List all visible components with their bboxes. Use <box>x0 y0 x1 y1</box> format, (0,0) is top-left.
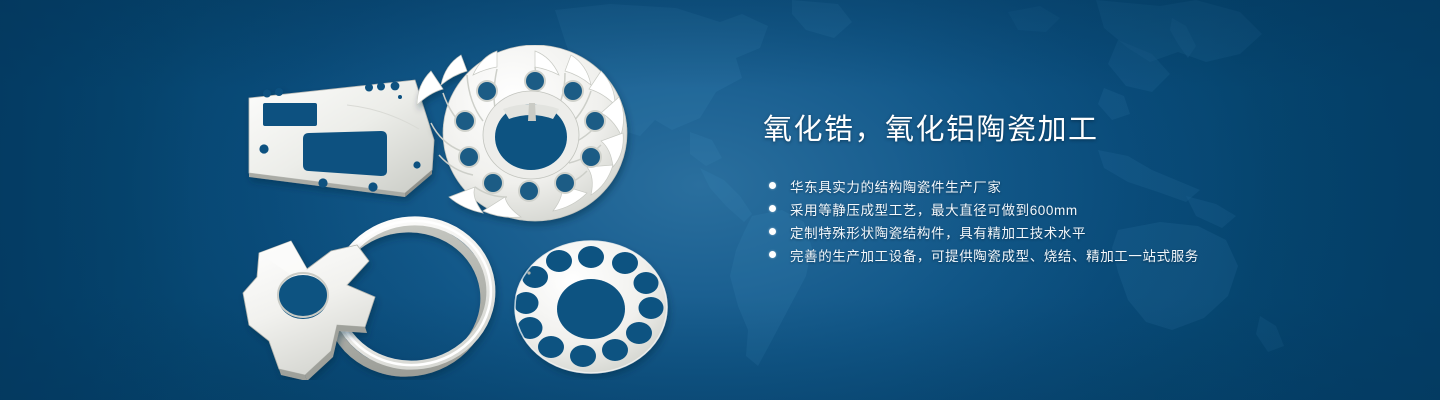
bullet-dot-icon <box>769 182 776 189</box>
page-title: 氧化锆，氧化铝陶瓷加工 <box>763 112 1383 148</box>
ceramic-bladed-impeller-disc <box>417 45 627 221</box>
feature-text: 定制特殊形状陶瓷结构件，具有精加工技术水平 <box>790 222 1086 242</box>
copy-block: 氧化锆，氧化铝陶瓷加工 华东具实力的结构陶瓷件生产厂家 采用等静压成型工艺，最大… <box>763 112 1383 266</box>
list-item: 华东具实力的结构陶瓷件生产厂家 <box>769 174 1383 197</box>
product-photo-cluster <box>235 45 705 380</box>
list-item: 采用等静压成型工艺，最大直径可做到600mm <box>769 197 1383 220</box>
bullet-dot-icon <box>769 205 776 212</box>
hero-banner: 氧化锆，氧化铝陶瓷加工 华东具实力的结构陶瓷件生产厂家 采用等静压成型工艺，最大… <box>0 0 1440 400</box>
list-item: 完善的生产加工设备，可提供陶瓷成型、烧结、精加工一站式服务 <box>769 243 1383 266</box>
list-item: 定制特殊形状陶瓷结构件，具有精加工技术水平 <box>769 220 1383 243</box>
feature-list: 华东具实力的结构陶瓷件生产厂家 采用等静压成型工艺，最大直径可做到600mm 定… <box>769 174 1383 266</box>
feature-text: 华东具实力的结构陶瓷件生产厂家 <box>790 176 1002 196</box>
ceramic-plate-with-cutouts <box>249 80 434 197</box>
feature-text: 完善的生产加工设备，可提供陶瓷成型、烧结、精加工一站式服务 <box>790 245 1199 265</box>
ceramic-perforated-ring-disc <box>514 241 668 373</box>
bullet-dot-icon <box>769 228 776 235</box>
feature-text: 采用等静压成型工艺，最大直径可做到600mm <box>790 199 1078 219</box>
bullet-dot-icon <box>769 251 776 258</box>
